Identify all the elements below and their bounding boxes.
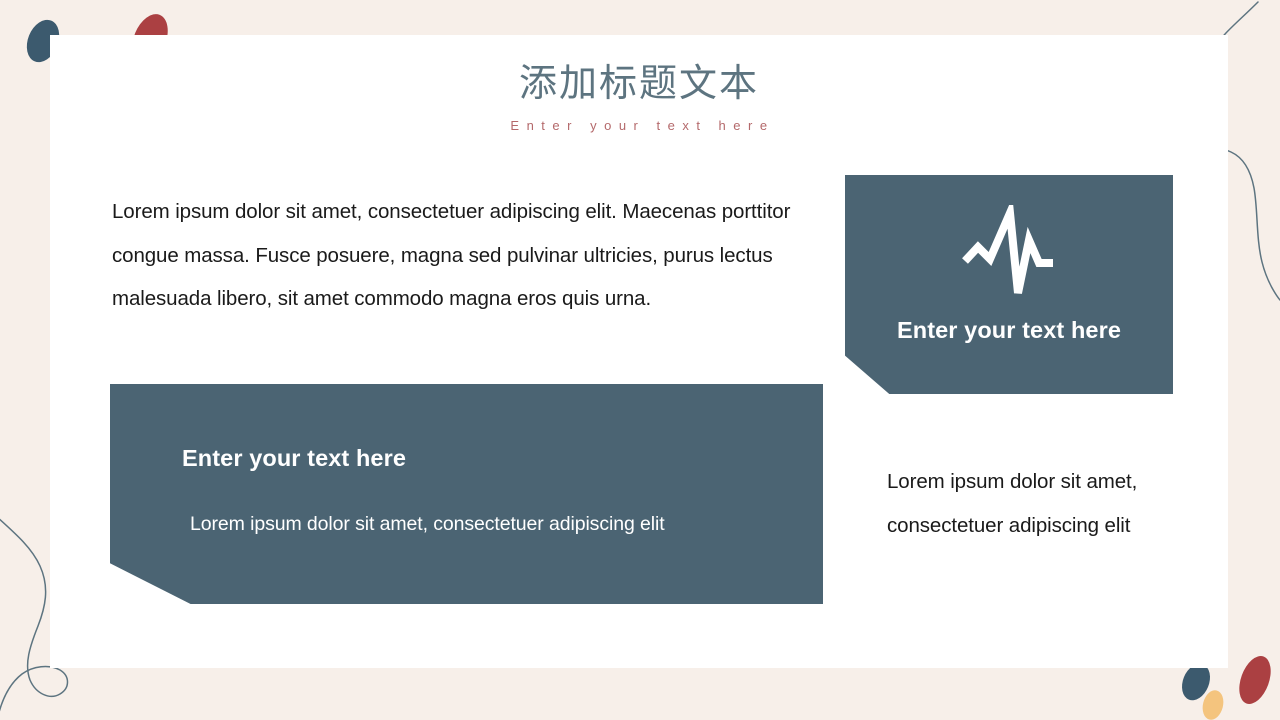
blob-red-bottom-right-large (1233, 652, 1276, 709)
pulse-icon (961, 205, 1057, 301)
page-subtitle: Enter your text here (50, 116, 1228, 136)
panel-left-title: Enter your text here (182, 445, 406, 472)
slide-card: 添加标题文本 Enter your text here Lorem ipsum … (50, 35, 1228, 668)
panel-right-title: Enter your text here (845, 317, 1173, 344)
panel-right[interactable]: Enter your text here (845, 175, 1173, 394)
panel-left-body: Lorem ipsum dolor sit amet, consectetuer… (190, 502, 750, 546)
right-paragraph: Lorem ipsum dolor sit amet, consectetuer… (887, 460, 1157, 547)
panel-left[interactable]: Enter your text here Lorem ipsum dolor s… (110, 384, 823, 604)
slide-canvas: 添加标题文本 Enter your text here Lorem ipsum … (0, 0, 1280, 720)
title-block: 添加标题文本 Enter your text here (50, 61, 1228, 136)
page-title: 添加标题文本 (50, 61, 1228, 107)
lead-paragraph: Lorem ipsum dolor sit amet, consectetuer… (112, 190, 822, 321)
blob-yellow-bottom-right (1200, 688, 1227, 720)
